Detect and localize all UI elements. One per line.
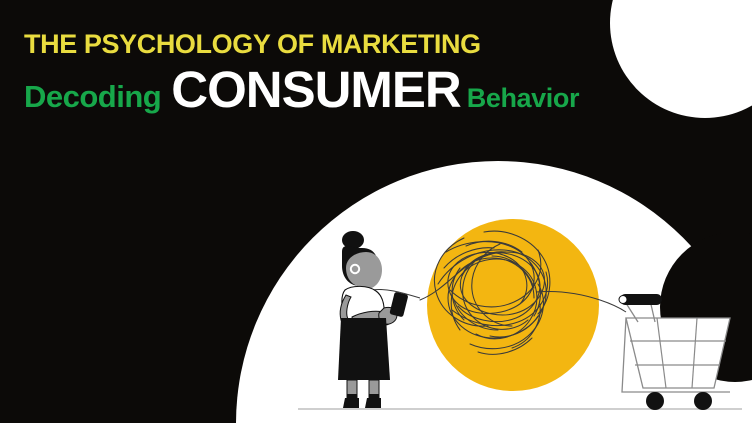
phone-icon bbox=[389, 292, 408, 318]
tangled-scribble-icon bbox=[420, 231, 550, 354]
woman-figure bbox=[338, 231, 408, 408]
shoe-left bbox=[343, 398, 359, 408]
shopping-cart-icon bbox=[619, 294, 730, 410]
ankle-band-left bbox=[347, 394, 357, 398]
cart-wheel-front bbox=[646, 392, 664, 410]
ankle-band-right bbox=[369, 394, 379, 398]
cart-wheel-back bbox=[694, 392, 712, 410]
skirt bbox=[338, 318, 390, 380]
poster-canvas: THE PSYCHOLOGY OF MARKETING DecodingCONS… bbox=[0, 0, 752, 423]
hair-bun bbox=[342, 231, 364, 249]
scribble-tail-right bbox=[536, 291, 626, 312]
cart-handle-cap bbox=[619, 296, 627, 304]
illustration-svg bbox=[0, 0, 752, 423]
shoe-right bbox=[365, 398, 381, 408]
cart-basket bbox=[626, 318, 730, 388]
